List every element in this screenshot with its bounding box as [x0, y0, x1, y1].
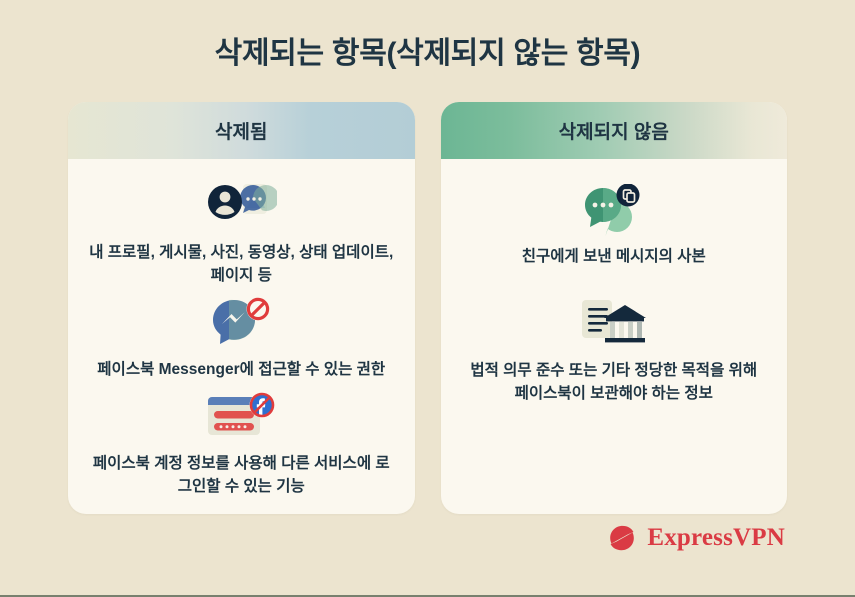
list-item-label: 페이스북 계정 정보를 사용해 다른 서비스에 로그인할 수 있는 기능	[86, 453, 396, 499]
chat-bubbles-copy-icon	[575, 181, 653, 239]
comparison-cards: 삭제됨	[68, 102, 787, 514]
list-item: 내 프로필, 게시물, 사진, 동영상, 상태 업데이트, 페이지 등	[84, 177, 399, 288]
list-item: 페이스북 계정 정보를 사용해 다른 서비스에 로그인할 수 있는 기능	[84, 388, 399, 499]
list-item: 법적 의무 준수 또는 기타 정당한 목적을 위해 페이스북이 보관해야 하는 …	[457, 295, 772, 406]
page-title: 삭제되는 항목(삭제되지 않는 항목)	[0, 28, 855, 72]
list-item-label: 내 프로필, 게시물, 사진, 동영상, 상태 업데이트, 페이지 등	[86, 242, 396, 288]
login-credentials-blocked-icon	[202, 388, 280, 446]
card-kept: 삭제되지 않음	[441, 102, 788, 514]
card-deleted-header: 삭제됨	[68, 102, 415, 159]
list-item-label: 법적 의무 준수 또는 기타 정당한 목적을 위해 페이스북이 보관해야 하는 …	[464, 360, 764, 406]
messenger-blocked-icon	[202, 294, 280, 352]
brand-name: ExpressVPN	[647, 524, 785, 552]
card-kept-header: 삭제되지 않음	[441, 102, 788, 159]
card-deleted: 삭제됨	[68, 102, 415, 514]
expressvpn-logo-mark	[607, 523, 637, 553]
expressvpn-logo: ExpressVPN	[607, 523, 785, 553]
list-item-label: 친구에게 보낸 메시지의 사본	[522, 246, 706, 269]
card-deleted-body: 내 프로필, 게시물, 사진, 동영상, 상태 업데이트, 페이지 등	[68, 159, 415, 514]
document-courthouse-icon	[575, 295, 653, 353]
infographic-page: 삭제되는 항목(삭제되지 않는 항목) 삭제됨	[0, 0, 855, 597]
card-kept-body: 친구에게 보낸 메시지의 사본	[441, 159, 788, 514]
list-item-label: 페이스북 Messenger에 접근할 수 있는 권한	[97, 359, 385, 382]
profile-photo-message-icon	[202, 177, 280, 235]
list-item: 친구에게 보낸 메시지의 사본	[457, 181, 772, 269]
list-item: 페이스북 Messenger에 접근할 수 있는 권한	[84, 294, 399, 382]
